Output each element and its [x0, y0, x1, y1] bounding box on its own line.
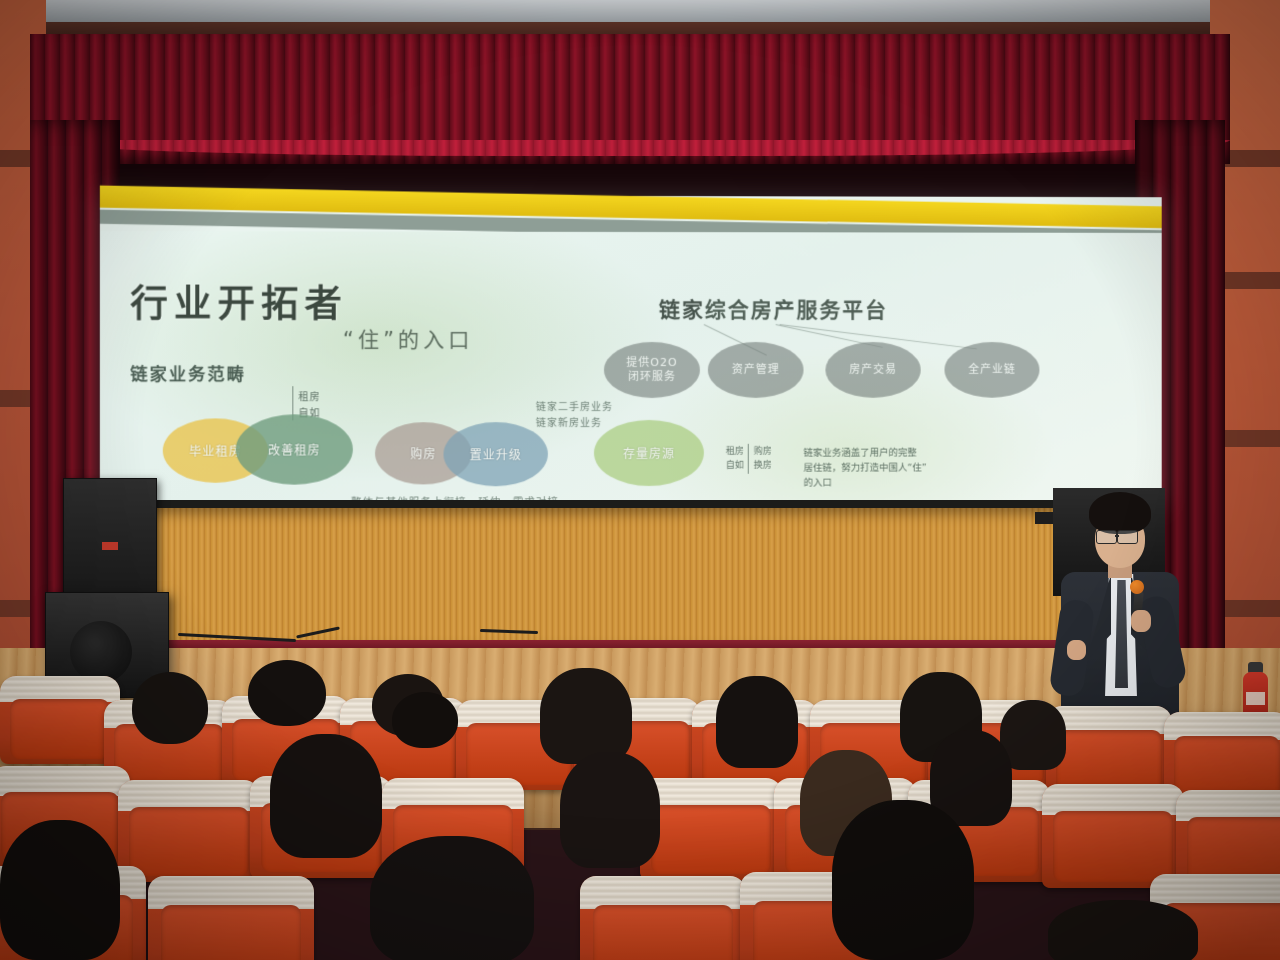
audience-member [248, 660, 326, 726]
audience-member [132, 672, 208, 744]
eyeglasses-bridge [1115, 535, 1119, 537]
service-badge-label: 资产管理 [732, 363, 780, 377]
ellipse-label: 购房 [410, 445, 436, 462]
slide-content: 行业开拓者 “住”的入口 链家业务范畴 链家综合房产服务平台 提供O2O 闭环服… [100, 231, 1162, 507]
hand-left [1067, 640, 1086, 660]
service-badge-label: 房产交易 [849, 363, 897, 377]
audience-member [540, 668, 632, 764]
bracket-left-labels: 租房 自如 [726, 446, 744, 473]
presenter [1045, 492, 1195, 742]
microphone-windscreen [1130, 580, 1144, 594]
speaker-cone [70, 621, 132, 683]
audience-member [370, 836, 534, 960]
audience-member [392, 692, 458, 748]
speaker-brand-logo [102, 542, 118, 550]
auditorium-seat [0, 676, 120, 764]
slide-brand-row: 链家综合房产服务平台 [659, 294, 888, 324]
seat-back [593, 905, 732, 960]
bracket-divider [748, 444, 749, 474]
slide-section-label: 链家业务范畴 [130, 360, 246, 385]
seat-back [651, 805, 770, 874]
brand-logo-text: 链家 [659, 298, 705, 322]
seat-back [129, 807, 248, 876]
audience-member [1048, 900, 1198, 960]
audience-member [270, 734, 382, 858]
fire-extinguisher-label [1246, 692, 1265, 705]
service-badge-label: 全产业链 [968, 363, 1015, 377]
mid-note-newhome: 链家新房业务 [536, 416, 602, 431]
ellipse-label: 存量房源 [623, 444, 675, 461]
tag-rent: 租房 [298, 388, 320, 403]
audience-member [716, 676, 798, 768]
stage-front-wood-panel [115, 508, 1140, 643]
auditorium-seat [148, 876, 314, 960]
eyeglasses-lens-right [1117, 530, 1138, 544]
auditorium-seat [640, 778, 782, 880]
auditorium-seat [1042, 784, 1184, 888]
ellipse-improved-rental: 改善租房 [236, 414, 353, 485]
ellipse-label: 毕业租房 [189, 442, 242, 459]
service-badge-o2o: 提供O2O 闭环服务 [604, 342, 700, 398]
pa-speaker-top [63, 478, 157, 602]
auditorium-scene: 行业开拓者 “住”的入口 链家业务范畴 链家综合房产服务平台 提供O2O 闭环服… [0, 0, 1280, 960]
ellipse-existing-stock: 存量房源 [594, 420, 704, 486]
ellipse-upgrade: 置业升级 [443, 422, 547, 486]
service-badge-asset-management: 资产管理 [708, 342, 804, 398]
seat-back [1053, 811, 1172, 882]
slide-right-note: 链家业务涵盖了用户的完整 居住链，努力打造中国人“住” 的入口 [804, 446, 933, 492]
auditorium-seat [580, 876, 746, 960]
seat-back [10, 699, 111, 759]
brand-tagline: 综合房产服务平台 [705, 298, 888, 322]
auditorium-seat [118, 780, 260, 882]
eyeglasses-lens-left [1096, 530, 1117, 544]
service-badge-property-transaction: 房产交易 [825, 342, 920, 398]
ellipse-label: 置业升级 [470, 446, 522, 463]
slide-title: 行业开拓者 [130, 273, 348, 327]
service-badge-full-chain: 全产业链 [944, 342, 1039, 398]
hand-right [1131, 610, 1151, 632]
mid-note-secondhand: 链家二手房业务 [536, 400, 613, 415]
bracket-right-labels: 购房 换房 [754, 446, 772, 473]
audience-member [560, 752, 660, 868]
ellipse-label: 改善租房 [268, 441, 321, 458]
slide-subtitle: “住”的入口 [343, 324, 474, 354]
hair [1089, 492, 1151, 534]
service-badge-label: 提供O2O 闭环服务 [626, 356, 677, 384]
projection-screen: 行业开拓者 “住”的入口 链家业务范畴 链家综合房产服务平台 提供O2O 闭环服… [100, 195, 1162, 507]
seat-back [161, 905, 300, 960]
audience-member [0, 820, 120, 960]
audience-member [832, 800, 974, 960]
